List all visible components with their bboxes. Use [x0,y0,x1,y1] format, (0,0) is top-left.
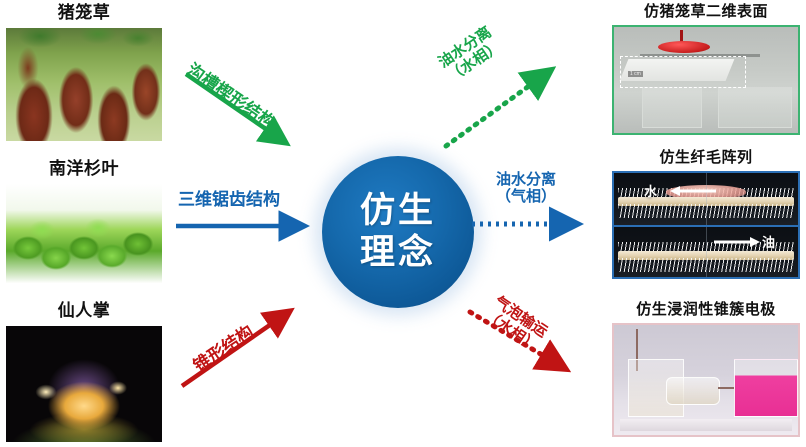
source-title-cactus: 仙人掌 [6,300,162,322]
source-title-araucaria: 南洋杉叶 [6,158,162,180]
bench-surface [620,419,792,431]
oil-direction-arrow [712,237,760,247]
arrow-oil-water-gas: 油水分离 （气相） [470,172,600,242]
source-panel-araucaria: 南洋杉叶 [6,158,162,292]
cactus-spine-dew-photo [6,326,162,442]
biomimetic-wettability-cone-electrode-photo [612,323,800,437]
cilia-label-water: 水 [644,181,657,200]
cone-cluster-electrode-cell [666,377,720,405]
source-title-nepenthes: 猪笼草 [6,2,162,24]
pink-solution-tank [734,359,798,417]
beaker-left [642,87,702,128]
arrow-label-line-1: 油水分离 [474,172,578,189]
source-panel-nepenthes: 猪笼草 [6,2,162,141]
beaker-right [718,87,792,128]
result-panel-cilia: 仿生纤毛阵列 水 [612,148,800,279]
cilia-frame-water: 水 [614,173,798,225]
red-liquid-drop [658,41,710,53]
result-title-cilia: 仿生纤毛阵列 [612,148,800,168]
arrow-3d-sawtooth: 三维锯齿结构 [174,190,314,248]
result-panel-electrode: 仿生浸润性锥簇电极 [612,300,800,437]
bionic-concept-line-2: 理念 [360,232,436,274]
source-panel-cactus: 仙人掌 [6,300,162,442]
cilia-frame-oil: 油 [614,225,798,279]
water-direction-arrow [670,186,718,196]
arrow-oil-water-aqueous: 油水分离 （水相） [432,52,572,156]
arrow-label-oil-water-gas: 油水分离 （气相） [474,172,578,206]
arrow-label-3d-sawtooth: 三维锯齿结构 [178,190,280,209]
cilia-label-oil: 油 [762,232,775,251]
araucaria-leaf-photo [6,184,162,292]
scale-bar-label: 1 cm [628,71,643,77]
arrow-conical: 锥形结构 [176,300,312,400]
bionic-concept-line-1: 仿生 [360,190,436,232]
biomimetic-2d-surface-photo: 1 cm [612,25,800,135]
nepenthes-pitcher-plant-photo [6,28,162,141]
arrow-groove-wedge: 沟槽楔形结构 [178,58,308,158]
result-panel-surface2d: 仿猪笼草二维表面 1 cm [612,2,800,135]
biomimetic-cilia-array-photo: 水 油 [612,171,800,279]
result-title-electrode: 仿生浸润性锥簇电极 [612,300,800,320]
biomimetic-concept-diagram: 猪笼草 南洋杉叶 仙人掌 仿生 理念 沟槽楔形结构 三维锯齿结构 [0,0,806,447]
bionic-concept-circle: 仿生 理念 [322,156,474,308]
result-title-surface2d: 仿猪笼草二维表面 [612,2,800,22]
frame-divider [706,173,707,225]
arrow-label-line-2: （气相） [474,189,578,206]
arrow-bubble-transport-aqueous: 气泡输运 （水相） [462,296,594,388]
frame-divider [706,227,707,279]
